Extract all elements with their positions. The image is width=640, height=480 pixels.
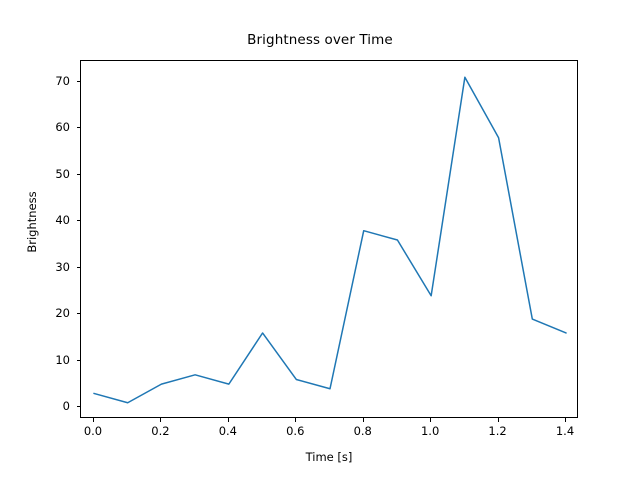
x-tick-label: 0.4 <box>198 424 258 438</box>
y-axis-label: Brightness <box>25 72 39 372</box>
x-tick-label: 1.0 <box>400 424 460 438</box>
x-tick-label: 0.6 <box>265 424 325 438</box>
x-tick-label: 1.2 <box>468 424 528 438</box>
y-tick-label: 40 <box>10 213 70 227</box>
y-tick-mark <box>77 313 81 314</box>
x-tick-mark <box>295 418 296 422</box>
y-tick-label: 50 <box>10 167 70 181</box>
y-tick-mark <box>77 360 81 361</box>
x-tick-mark <box>430 418 431 422</box>
y-tick-mark <box>77 174 81 175</box>
y-tick-mark <box>77 267 81 268</box>
x-tick-mark <box>565 418 566 422</box>
y-tick-label: 0 <box>10 399 70 413</box>
brightness-line <box>94 77 566 402</box>
y-tick-label: 60 <box>10 120 70 134</box>
y-tick-mark <box>77 81 81 82</box>
y-tick-label: 20 <box>10 306 70 320</box>
x-tick-mark <box>160 418 161 422</box>
x-tick-mark <box>93 418 94 422</box>
x-axis-label: Time [s] <box>80 450 578 464</box>
y-tick-mark <box>77 127 81 128</box>
chart-figure: Brightness over Time 010203040506070 0.0… <box>0 0 640 480</box>
x-tick-mark <box>498 418 499 422</box>
plot-area <box>80 60 578 418</box>
x-tick-mark <box>363 418 364 422</box>
x-tick-label: 0.2 <box>130 424 190 438</box>
y-tick-label: 10 <box>10 353 70 367</box>
y-tick-label: 70 <box>10 74 70 88</box>
y-tick-mark <box>77 220 81 221</box>
x-tick-mark <box>228 418 229 422</box>
y-tick-label: 30 <box>10 260 70 274</box>
x-tick-label: 0.8 <box>333 424 393 438</box>
chart-title: Brightness over Time <box>0 32 640 48</box>
x-tick-label: 0.0 <box>63 424 123 438</box>
x-tick-label: 1.4 <box>535 424 595 438</box>
line-series-svg <box>81 61 579 419</box>
y-tick-mark <box>77 406 81 407</box>
